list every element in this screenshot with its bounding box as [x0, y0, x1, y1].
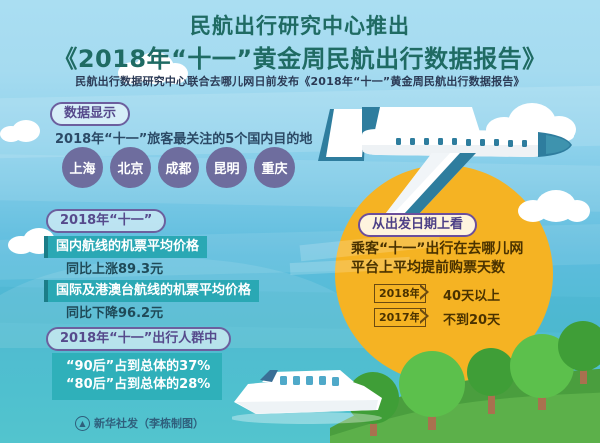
- page-title-line1: 民航出行研究中心推出: [0, 10, 600, 40]
- badge-data-shows: 数据显示: [50, 102, 130, 126]
- destination-circle-kunming[interactable]: 昆明: [206, 147, 247, 188]
- boat-hull-shadow: [236, 400, 378, 414]
- advance-booking-lead-line1: 乘客“十一”出行在去哪儿网: [351, 240, 523, 259]
- destination-circle-list: 上海 北京 成都 昆明 重庆: [62, 147, 295, 188]
- page-title-line2: 《2018年“十一”黄金周民航出行数据报告》: [0, 39, 600, 74]
- boat-window: [332, 377, 339, 386]
- boat-window: [319, 376, 326, 385]
- credit-text: 新华社发（李栋制图）: [94, 415, 204, 431]
- page-subtitle: 民航出行数据研究中心联合去哪儿网日前发布《2018年“十一”黄金周民航出行数据报…: [0, 73, 600, 89]
- advance-booking-value-2018: 40天以上: [443, 285, 500, 304]
- tree-canopy: [467, 348, 515, 396]
- boat-wake: [232, 412, 382, 424]
- destination-circle-beijing[interactable]: 北京: [110, 147, 151, 188]
- boat-window: [306, 376, 313, 385]
- badge-age-groups: 2018年“十一”出行人群中: [46, 327, 231, 351]
- boat-window: [293, 376, 300, 385]
- advance-booking-year-2018: 2018年: [374, 284, 426, 303]
- age-group-80s: “80后”占到总体的28%: [66, 376, 210, 394]
- xinhua-logo-icon: ▲: [75, 416, 90, 431]
- price-domestic-value: 同比上涨89.3元: [66, 258, 163, 277]
- badge-prices-2018: 2018年“十一”: [46, 209, 166, 233]
- arrow-icon-inner: [419, 310, 426, 322]
- airplane-illustration: [300, 105, 600, 225]
- destinations-lead: 2018年“十一”旅客最关注的5个国内目的地: [55, 128, 312, 147]
- plane-nose-inner: [546, 135, 570, 154]
- arrow-icon-inner: [419, 286, 426, 298]
- price-domestic-label: 国内航线的机票平均价格: [44, 236, 207, 258]
- destination-circle-chengdu[interactable]: 成都: [158, 147, 199, 188]
- price-international-value: 同比下降96.2元: [66, 302, 163, 321]
- destination-circle-shanghai[interactable]: 上海: [62, 147, 103, 188]
- boat-window: [280, 376, 287, 385]
- credit-line: ▲ 新华社发（李栋制图）: [75, 415, 204, 431]
- destination-circle-chongqing[interactable]: 重庆: [254, 147, 295, 188]
- infographic-poster: 民航出行研究中心推出 《2018年“十一”黄金周民航出行数据报告》 民航出行数据…: [0, 0, 600, 443]
- boat-illustration: [232, 358, 412, 428]
- advance-booking-value-2017: 不到20天: [443, 309, 500, 328]
- age-group-box: “90后”占到总体的37% “80后”占到总体的28%: [52, 353, 222, 400]
- advance-booking-year-2017: 2017年: [374, 308, 426, 327]
- badge-departure-date: 从出发日期上看: [358, 213, 477, 237]
- advance-booking-lead-line2: 平台上平均提前购票天数: [351, 259, 505, 278]
- age-group-90s: “90后”占到总体的37%: [66, 358, 210, 376]
- price-international-label: 国际及港澳台航线的机票平均价格: [44, 280, 259, 302]
